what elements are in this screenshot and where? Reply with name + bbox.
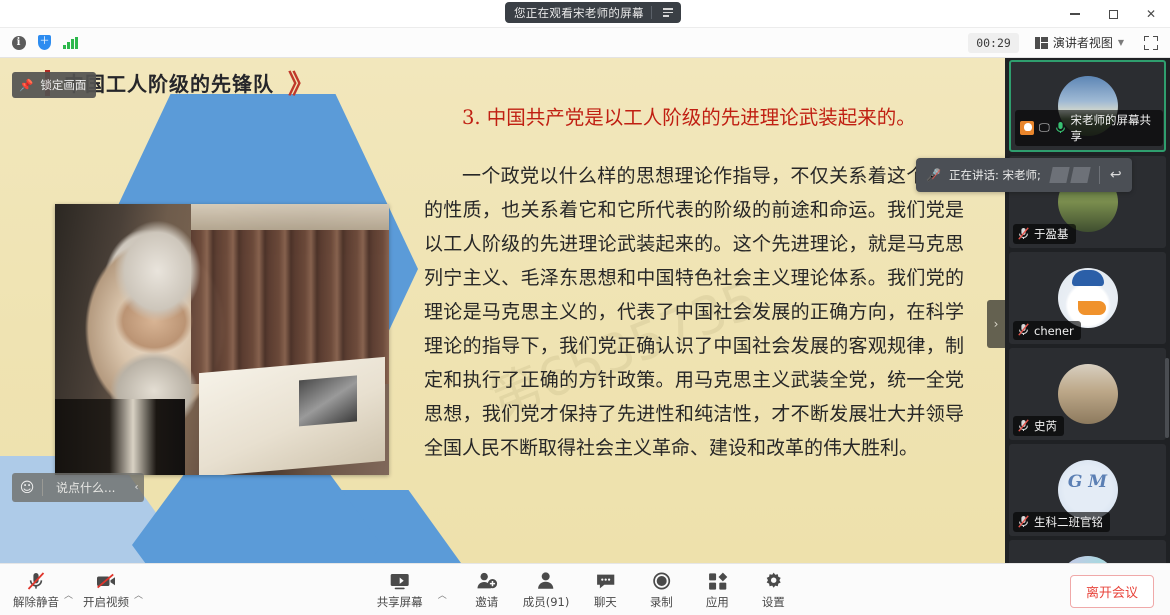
av-controls: 解除静音 ︿ 开启视频 ︿ <box>10 565 150 615</box>
toolbar-item-label: 共享屏幕 <box>377 594 423 610</box>
chevron-down-icon: ▼ <box>1118 38 1124 47</box>
toolbar-apps-grid-button[interactable]: 应用 <box>694 565 740 615</box>
shield-glyph: ＋ <box>38 35 51 50</box>
toolbar-center-actions: 共享屏幕︿邀请成员(91)聊天录制应用设置 <box>374 565 797 615</box>
unmute-label: 解除静音 <box>13 594 59 610</box>
audio-options-caret[interactable]: ︿ <box>62 588 80 615</box>
participant-name-badge: 于盈基 <box>1013 224 1076 244</box>
participant-name: chener <box>1034 324 1074 338</box>
meeting-info-bar: i ＋ 00:29 演讲者视图 ▼ <box>0 28 1170 58</box>
chat-bubble-icon <box>593 570 617 592</box>
status-icons: i ＋ <box>0 32 81 53</box>
pin-screen-tooltip[interactable]: 📌 锁定画面 <box>12 72 96 98</box>
participant-name: 生科二班官铭 <box>1034 514 1103 530</box>
camera-off-icon <box>94 570 118 592</box>
window-controls: ✕ <box>1056 0 1170 28</box>
participant-name-badge: 史芮 <box>1013 416 1064 436</box>
host-icon <box>1020 121 1034 135</box>
toolbar-chat-bubble-button[interactable]: 聊天 <box>582 565 628 615</box>
mic-muted-icon <box>1018 227 1029 242</box>
share-notice-pill[interactable]: 您正在观看宋老师的屏幕 <box>505 2 681 23</box>
active-speaker-label: 正在讲话: 宋老师; <box>949 167 1051 183</box>
toolbar-item-label: 应用 <box>706 594 729 610</box>
encryption-shield-icon[interactable]: ＋ <box>34 32 55 53</box>
toolbar-item-label: 成员(91) <box>523 594 570 610</box>
maximize-button[interactable] <box>1094 0 1132 28</box>
open-book-detail <box>199 357 385 475</box>
participant-name: 宋老师的屏幕共享 <box>1071 112 1156 144</box>
participant-tile[interactable]: ⌄ <box>1009 540 1166 563</box>
info-icon[interactable]: i <box>8 32 29 53</box>
meeting-toolbar: 解除静音 ︿ 开启视频 ︿ 共享屏幕︿邀请成员(91)聊天录制应用设置 离开会议 <box>0 563 1170 615</box>
avatar <box>1058 364 1118 424</box>
toolbar-item-label: 邀请 <box>475 594 498 610</box>
participant-filmstrip[interactable]: 🖵宋老师的屏幕共享于盈基chener史芮生科二班官铭⌄ <box>1005 58 1170 563</box>
fullscreen-icon <box>1144 36 1158 50</box>
avatar <box>1058 268 1118 328</box>
info-glyph: i <box>12 36 26 50</box>
portrait-suit-detail <box>55 399 185 475</box>
pin-tooltip-label: 锁定画面 <box>40 77 86 93</box>
mic-muted-icon <box>1018 323 1029 338</box>
collapse-filmstrip-handle[interactable]: › <box>987 300 1005 348</box>
slide-heading: 3. 中国共产党是以工人阶级的先进理论武装起来的。 <box>424 102 964 134</box>
toolbar-record-circle-button[interactable]: 录制 <box>638 565 684 615</box>
participants-icon <box>534 570 558 592</box>
slide-paragraph: 一个政党以什么样的思想理论作指导，不仅关系着这个政党的性质，也关系着它和它所代表… <box>424 159 964 465</box>
hexagon-shape <box>132 460 382 563</box>
pin-icon: 📌 <box>19 78 33 92</box>
start-video-label: 开启视频 <box>83 594 129 610</box>
video-options-caret[interactable]: ︿ <box>132 588 150 615</box>
participant-tile[interactable]: 生科二班官铭 <box>1009 444 1166 536</box>
shared-screen-viewport[interactable]: 第6535735 中国工人阶级的先锋队 》 📌 锁定画面 3. 中国共产党是以工… <box>0 58 1005 563</box>
toolbar-item-label: 录制 <box>650 594 673 610</box>
toolbar-gear-button[interactable]: 设置 <box>750 565 796 615</box>
toolbar-item-label: 聊天 <box>594 594 617 610</box>
start-video-button[interactable]: 开启视频 <box>80 565 132 615</box>
toolbar-share-screen-button[interactable]: 共享屏幕 <box>374 565 426 615</box>
reply-icon[interactable]: ↩ <box>1100 167 1132 183</box>
minimize-button[interactable] <box>1056 0 1094 28</box>
toolbar-invite-person-button[interactable]: 邀请 <box>464 565 510 615</box>
floating-chat-input[interactable]: ☺ 说点什么... ‹ <box>12 473 144 502</box>
share-screen-icon <box>388 570 412 592</box>
marx-portrait-image <box>55 204 389 475</box>
participant-tile[interactable]: 史芮 <box>1009 348 1166 440</box>
avatar <box>1058 556 1118 563</box>
participant-name-badge: 生科二班官铭 <box>1013 512 1110 532</box>
active-speaker-toast: 🎤̸ 正在讲话: 宋老师; ↩ <box>916 158 1132 192</box>
slide-body: 3. 中国共产党是以工人阶级的先进理论武装起来的。 一个政党以什么样的思想理论作… <box>424 102 964 465</box>
view-mode-selector[interactable]: 演讲者视图 ▼ <box>1028 31 1131 54</box>
screen-share-icon: 🖵 <box>1039 121 1050 135</box>
meeting-timer: 00:29 <box>968 33 1019 53</box>
decorative-blocks <box>1051 167 1099 183</box>
layout-icon <box>1035 37 1048 49</box>
mic-muted-icon: 🎤̸ <box>916 169 949 181</box>
invite-person-icon <box>475 570 499 592</box>
participant-name: 史芮 <box>1034 418 1057 434</box>
double-chevron-icon: 》 <box>288 64 308 101</box>
close-button[interactable]: ✕ <box>1132 0 1170 28</box>
filmstrip-scrollbar[interactable] <box>1165 358 1169 438</box>
participant-tile[interactable]: 🖵宋老师的屏幕共享 <box>1009 60 1166 152</box>
title-bar: 您正在观看宋老师的屏幕 ✕ <box>0 0 1170 28</box>
mic-muted-icon <box>1018 515 1029 530</box>
hamburger-menu-icon[interactable] <box>659 8 677 17</box>
fullscreen-button[interactable] <box>1140 32 1161 53</box>
emoji-icon[interactable]: ☺ <box>12 480 42 496</box>
view-controls: 00:29 演讲者视图 ▼ <box>968 31 1170 54</box>
avatar <box>1058 460 1118 520</box>
view-mode-label: 演讲者视图 <box>1053 34 1113 51</box>
collapse-chat-icon[interactable]: ‹ <box>128 482 144 493</box>
divider <box>651 6 652 19</box>
share-notice-label: 您正在观看宋老师的屏幕 <box>514 5 644 21</box>
participant-name-badge: chener <box>1013 321 1081 340</box>
gear-icon <box>761 570 785 592</box>
mic-muted-icon <box>1018 419 1029 434</box>
mic-muted-icon <box>24 570 48 592</box>
unmute-button[interactable]: 解除静音 <box>10 565 62 615</box>
network-signal-icon[interactable] <box>60 32 81 53</box>
chat-input-placeholder[interactable]: 说点什么... <box>43 479 128 496</box>
apps-grid-icon <box>705 570 729 592</box>
share-options-caret[interactable]: ︿ <box>436 588 454 615</box>
leave-area: 离开会议 <box>1070 575 1154 608</box>
record-circle-icon <box>649 570 673 592</box>
leave-meeting-button[interactable]: 离开会议 <box>1070 575 1154 608</box>
participant-tile[interactable]: chener <box>1009 252 1166 344</box>
zoom-meeting-window: 您正在观看宋老师的屏幕 ✕ i ＋ 00:29 演讲者视图 <box>0 0 1170 615</box>
participant-name: 于盈基 <box>1034 226 1069 242</box>
toolbar-participants-button[interactable]: 成员(91) <box>520 565 573 615</box>
toolbar-item-label: 设置 <box>762 594 785 610</box>
participant-name-badge: 🖵宋老师的屏幕共享 <box>1015 110 1163 146</box>
mic-on-icon <box>1055 121 1066 136</box>
